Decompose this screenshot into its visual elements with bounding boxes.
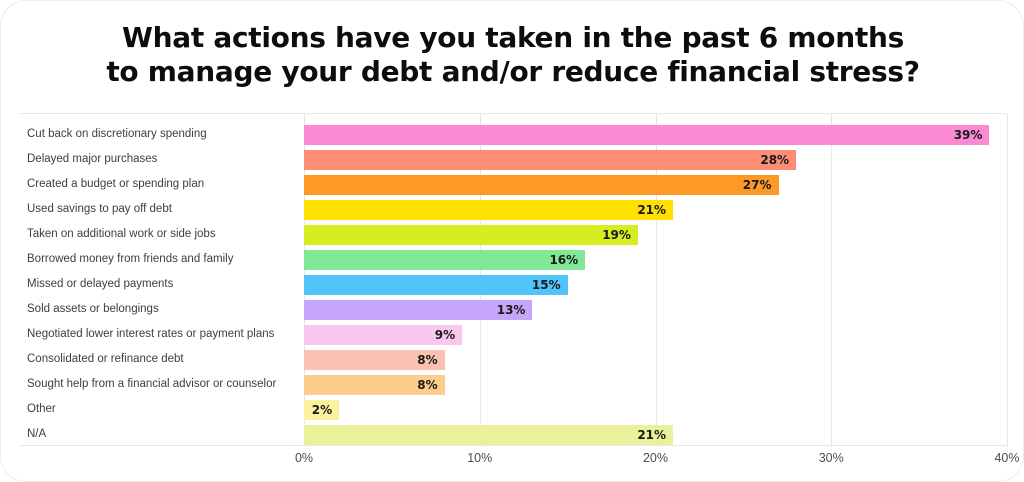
bar-value-label: 8% (417, 378, 444, 392)
category-label: Sought help from a financial advisor or … (27, 372, 276, 397)
bar-value-label: 21% (637, 428, 673, 442)
bar[interactable]: 21% (304, 425, 673, 445)
category-label: N/A (27, 422, 46, 447)
category-label: Consolidated or refinance debt (27, 347, 184, 372)
bar-value-label: 2% (312, 403, 339, 417)
bar-track: 27% (304, 172, 1007, 197)
bar-value-label: 16% (549, 253, 585, 267)
bar-row: Other2% (19, 397, 1007, 422)
bar[interactable]: 21% (304, 200, 673, 220)
bar[interactable]: 39% (304, 125, 989, 145)
bar-track: 39% (304, 122, 1007, 147)
bar-track: 8% (304, 347, 1007, 372)
bar-track: 8% (304, 372, 1007, 397)
bar-value-label: 8% (417, 353, 444, 367)
bar[interactable]: 8% (304, 375, 445, 395)
bar-row: Delayed major purchases28% (19, 147, 1007, 172)
bar-value-label: 21% (637, 203, 673, 217)
bar-track: 19% (304, 222, 1007, 247)
title-line-2: to manage your debt and/or reduce financ… (1, 55, 1024, 89)
bar-value-label: 39% (954, 128, 990, 142)
x-axis: 0%10%20%30%40% (19, 447, 1007, 473)
bar-row: Sold assets or belongings13% (19, 297, 1007, 322)
bar-track: 21% (304, 422, 1007, 447)
bar-track: 9% (304, 322, 1007, 347)
bar-row: Created a budget or spending plan27% (19, 172, 1007, 197)
bar-row: Cut back on discretionary spending39% (19, 122, 1007, 147)
bar-row: Missed or delayed payments15% (19, 272, 1007, 297)
category-label: Sold assets or belongings (27, 297, 159, 322)
bar[interactable]: 9% (304, 325, 462, 345)
x-tick-label: 0% (295, 451, 313, 465)
bar[interactable]: 19% (304, 225, 638, 245)
bar-row: Used savings to pay off debt21% (19, 197, 1007, 222)
bar[interactable]: 8% (304, 350, 445, 370)
bar-row: Sought help from a financial advisor or … (19, 372, 1007, 397)
bar-value-label: 27% (743, 178, 779, 192)
bar-row: Borrowed money from friends and family16… (19, 247, 1007, 272)
bar[interactable]: 28% (304, 150, 796, 170)
page-title: What actions have you taken in the past … (1, 21, 1024, 89)
category-label: Cut back on discretionary spending (27, 122, 207, 147)
x-tick-label: 20% (643, 451, 668, 465)
bar-row: Consolidated or refinance debt8% (19, 347, 1007, 372)
bar-track: 15% (304, 272, 1007, 297)
bar[interactable]: 16% (304, 250, 585, 270)
gridline-40pct (1007, 114, 1008, 447)
chart-card: What actions have you taken in the past … (0, 0, 1024, 482)
bar-track: 28% (304, 147, 1007, 172)
plot-area: Cut back on discretionary spending39%Del… (19, 113, 1007, 446)
bar[interactable]: 27% (304, 175, 779, 195)
category-label: Created a budget or spending plan (27, 172, 204, 197)
category-label: Borrowed money from friends and family (27, 247, 233, 272)
category-label: Other (27, 397, 56, 422)
bar[interactable]: 2% (304, 400, 339, 420)
bar-rows: Cut back on discretionary spending39%Del… (19, 122, 1007, 447)
bar-track: 13% (304, 297, 1007, 322)
bar[interactable]: 15% (304, 275, 568, 295)
category-label: Used savings to pay off debt (27, 197, 172, 222)
bar-row: N/A21% (19, 422, 1007, 447)
bar-value-label: 13% (497, 303, 533, 317)
bar[interactable]: 13% (304, 300, 532, 320)
category-label: Missed or delayed payments (27, 272, 173, 297)
bar-value-label: 19% (602, 228, 638, 242)
title-line-1: What actions have you taken in the past … (1, 21, 1024, 55)
category-label: Taken on additional work or side jobs (27, 222, 216, 247)
x-tick-label: 10% (467, 451, 492, 465)
bar-track: 2% (304, 397, 1007, 422)
x-tick-label: 30% (819, 451, 844, 465)
bar-row: Negotiated lower interest rates or payme… (19, 322, 1007, 347)
bar-track: 21% (304, 197, 1007, 222)
bar-row: Taken on additional work or side jobs19% (19, 222, 1007, 247)
bar-value-label: 28% (760, 153, 796, 167)
bar-value-label: 15% (532, 278, 568, 292)
x-tick-label: 40% (994, 451, 1019, 465)
bar-value-label: 9% (435, 328, 462, 342)
category-label: Delayed major purchases (27, 147, 157, 172)
category-label: Negotiated lower interest rates or payme… (27, 322, 274, 347)
bar-track: 16% (304, 247, 1007, 272)
